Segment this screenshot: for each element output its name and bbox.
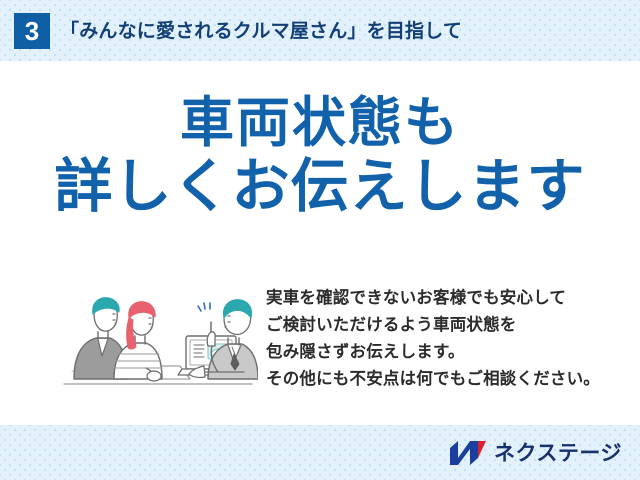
advertisement-page: 3 「みんなに愛されるクルマ屋さん」を目指して 車両状態も 詳しくお伝えします xyxy=(0,0,640,480)
consultation-illustration-svg xyxy=(58,276,258,396)
emphasis-marks-icon xyxy=(198,303,210,311)
footer-band: ネクステージ xyxy=(0,425,640,480)
body-copy-line: 実車を確認できないお客様でも安心して xyxy=(266,285,626,312)
heading-line-1: 車両状態も xyxy=(0,96,640,151)
body-copy: 実車を確認できないお客様でも安心して ご検討いただけるよう車両状態を 包み隠さず… xyxy=(266,285,626,393)
header-title: 「みんなに愛されるクルマ屋さん」を目指して xyxy=(60,16,462,47)
brand-name: ネクステージ xyxy=(494,443,622,464)
nextage-n-logo-icon xyxy=(449,440,487,466)
step-number-badge: 3 xyxy=(14,13,50,49)
body-copy-line: その他にも不安点は何でもご相談ください。 xyxy=(266,366,626,393)
consultation-illustration xyxy=(58,276,258,396)
body-copy-line: ご検討いただけるよう車両状態を xyxy=(266,312,626,339)
heading-line-2: 詳しくお伝えします xyxy=(0,157,640,216)
main-heading: 車両状態も 詳しくお伝えします xyxy=(0,96,640,216)
brand-logo: ネクステージ xyxy=(449,438,622,468)
header-band: 3 「みんなに愛されるクルマ屋さん」を目指して xyxy=(0,0,640,61)
body-copy-line: 包み隠さずお伝えします。 xyxy=(266,339,626,366)
